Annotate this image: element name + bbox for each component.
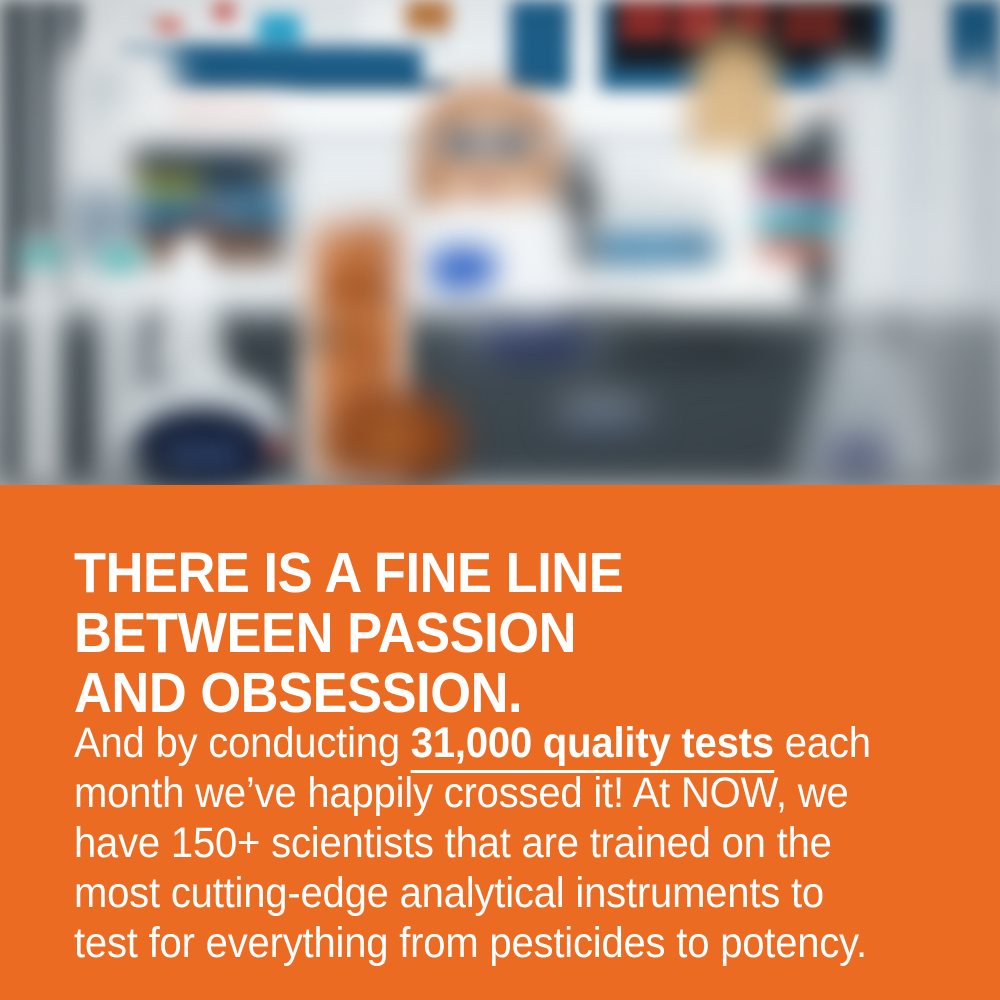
page-title: THERE IS A FINE LINE BETWEEN PASSION AND… xyxy=(74,543,902,723)
body-line-1-pre: And by conducting xyxy=(74,719,411,767)
body-line-1-post: each xyxy=(774,719,871,767)
photo-vignette xyxy=(0,0,1000,486)
quality-tests-highlight: 31,000 quality tests xyxy=(411,719,774,773)
body-line-2: month we’ve happily crossed it! At NOW, … xyxy=(74,768,874,818)
body-line-4: most cutting-edge analytical instruments… xyxy=(74,868,874,918)
headline-line-2: BETWEEN PASSION xyxy=(74,603,902,663)
headline-line-1: THERE IS A FINE LINE xyxy=(74,543,902,603)
body-copy: And by conducting 31,000 quality tests e… xyxy=(74,718,874,968)
body-line-1: And by conducting 31,000 quality tests e… xyxy=(74,718,874,768)
headline-line-3: AND OBSESSION. xyxy=(74,663,902,723)
promo-card: 500 xyxy=(0,0,1000,1000)
laboratory-photo: 500 xyxy=(0,0,1000,486)
body-line-3: have 150+ scientists that are trained on… xyxy=(74,818,874,868)
body-line-5: test for everything from pesticides to p… xyxy=(74,918,874,968)
